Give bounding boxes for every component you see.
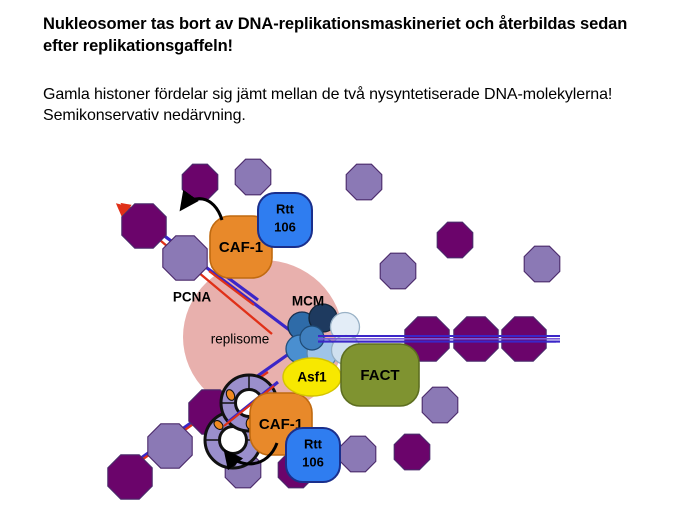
rtt106-bottom-label-line2: 106 bbox=[302, 454, 324, 469]
rtt106-bottom[interactable]: Rtt 106 bbox=[286, 428, 340, 482]
slide-subline: Gamla histoner fördelar sig jämt mellan … bbox=[43, 84, 663, 127]
nucleosome-bottom-new-1 bbox=[148, 424, 192, 468]
histone-transfer-arrow-top bbox=[182, 199, 222, 220]
replication-nucleosome-diagram: CAF-1 Rtt 106 CAF-1 Rtt 106 Asf1 FACT bbox=[0, 150, 694, 520]
rtt106-top-label-line1: Rtt bbox=[276, 201, 295, 216]
free-nucleosome-4 bbox=[437, 222, 473, 258]
asf1[interactable]: Asf1 bbox=[283, 358, 341, 396]
free-nucleosome-9 bbox=[340, 436, 376, 472]
pcna-label: PCNA bbox=[173, 290, 212, 305]
free-nucleosome-8 bbox=[394, 434, 430, 470]
free-nucleosome-6 bbox=[524, 246, 560, 282]
fact-label: FACT bbox=[360, 367, 399, 384]
fact[interactable]: FACT bbox=[341, 344, 419, 406]
nucleosome-top-new bbox=[163, 236, 207, 280]
free-nucleosome-5 bbox=[380, 253, 416, 289]
slide-headline: Nukleosomer tas bort av DNA-replikations… bbox=[43, 14, 663, 58]
rtt106-top-label-line2: 106 bbox=[274, 219, 296, 234]
rtt106-bottom-label-line1: Rtt bbox=[304, 436, 323, 451]
free-nucleosome-7 bbox=[422, 387, 458, 423]
replisome-label: replisome bbox=[211, 332, 270, 347]
asf1-label: Asf1 bbox=[297, 370, 327, 385]
rtt106-top[interactable]: Rtt 106 bbox=[258, 193, 312, 247]
slide-text-block: Nukleosomer tas bort av DNA-replikations… bbox=[43, 14, 663, 127]
free-nucleosome-1 bbox=[182, 164, 218, 200]
caf1-top-label: CAF-1 bbox=[219, 239, 263, 256]
free-nucleosome-2 bbox=[235, 159, 271, 195]
dna-through-mcm bbox=[318, 336, 560, 342]
slide-root: Nukleosomer tas bort av DNA-replikations… bbox=[0, 0, 694, 520]
mcm-label: MCM bbox=[292, 294, 324, 309]
free-nucleosome-3 bbox=[346, 164, 382, 200]
nucleosome-bottom-old-2 bbox=[108, 455, 152, 499]
nucleosome-top-old bbox=[122, 204, 166, 248]
